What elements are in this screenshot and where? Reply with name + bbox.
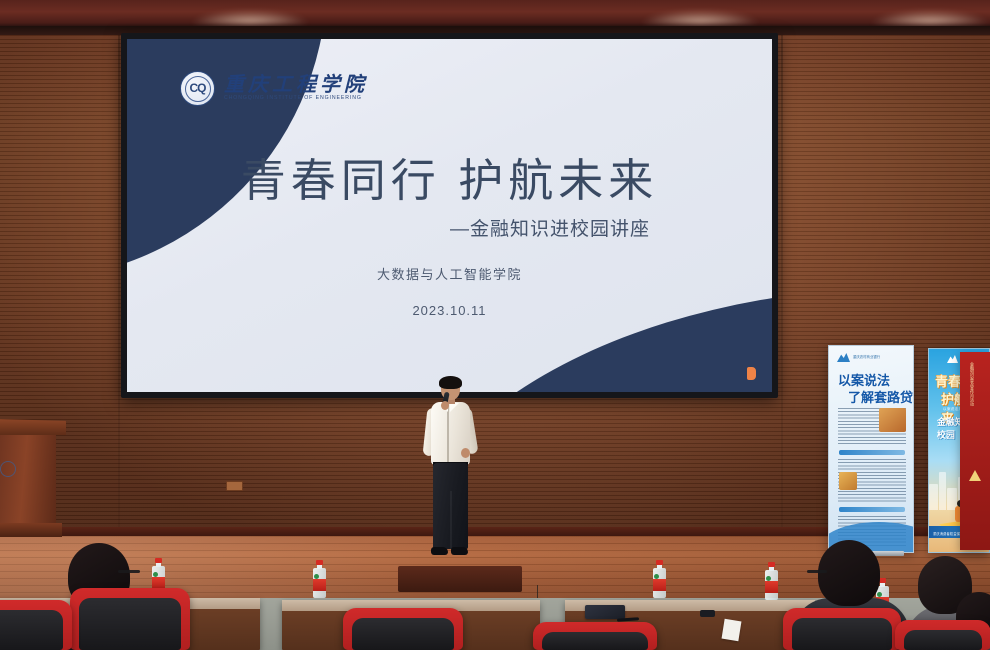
banner-case-law: 重庆农村商业银行 以案说法 了解套路贷	[828, 345, 914, 553]
auditorium-chair	[343, 608, 463, 650]
auditorium-photo: CQ 重庆工程学院 CHONGQING INSTITUTE OF ENGINEE…	[0, 0, 990, 650]
wall-seam	[118, 35, 120, 535]
wall-seam	[781, 35, 783, 535]
institution-logo: CQ 重庆工程学院 CHONGQING INSTITUTE OF ENGINEE…	[180, 71, 368, 106]
banner-headline-2: 了解套路贷	[848, 387, 913, 406]
glasses-icon	[807, 570, 827, 573]
triangle-icon	[969, 470, 981, 481]
slide-surface: CQ 重庆工程学院 CHONGQING INSTITUTE OF ENGINEE…	[127, 39, 772, 392]
banner-red: 金融知识普及宣传月活动	[960, 352, 990, 550]
institution-name-en: CHONGQING INSTITUTE OF ENGINEERING	[224, 96, 368, 101]
glasses-icon	[118, 570, 140, 573]
university-seal-icon: CQ	[180, 71, 215, 106]
bank-logo-icon	[837, 353, 850, 362]
auditorium-chair	[895, 620, 990, 650]
slide-subtitle: —金融知识进校园讲座	[450, 214, 650, 241]
slide-accent-orange	[747, 367, 756, 380]
water-bottle	[765, 562, 778, 600]
institution-name-cn: 重庆工程学院	[224, 75, 368, 95]
water-bottle	[313, 560, 326, 598]
podium-emblem-icon	[0, 461, 16, 477]
projection-screen: CQ 重庆工程学院 CHONGQING INSTITUTE OF ENGINEE…	[121, 33, 778, 398]
notebook	[585, 605, 625, 619]
auditorium-chair	[0, 600, 72, 650]
auditorium-chair	[70, 588, 190, 650]
seal-monogram: CQ	[190, 81, 206, 95]
phone	[700, 610, 715, 617]
paper-sheet	[722, 619, 742, 641]
auditorium-chair	[783, 608, 901, 650]
upper-wall-band	[0, 0, 990, 26]
slide-department: 大数据与人工智能学院	[127, 264, 772, 283]
slide-title: 青春同行 护航未来	[127, 144, 772, 209]
banner-red-text: 金融知识普及宣传月活动	[963, 362, 975, 406]
podium	[0, 419, 66, 537]
speaker-person	[417, 378, 479, 558]
banner-sponsor: 重庆农村商业银行	[853, 355, 880, 359]
water-bottle	[653, 560, 666, 598]
bank-logo-icon	[947, 355, 958, 363]
audience-person-head	[818, 540, 880, 606]
wall-outlet	[226, 481, 243, 491]
slide-date: 2023.10.11	[127, 303, 772, 318]
auditorium-chair	[533, 622, 657, 650]
